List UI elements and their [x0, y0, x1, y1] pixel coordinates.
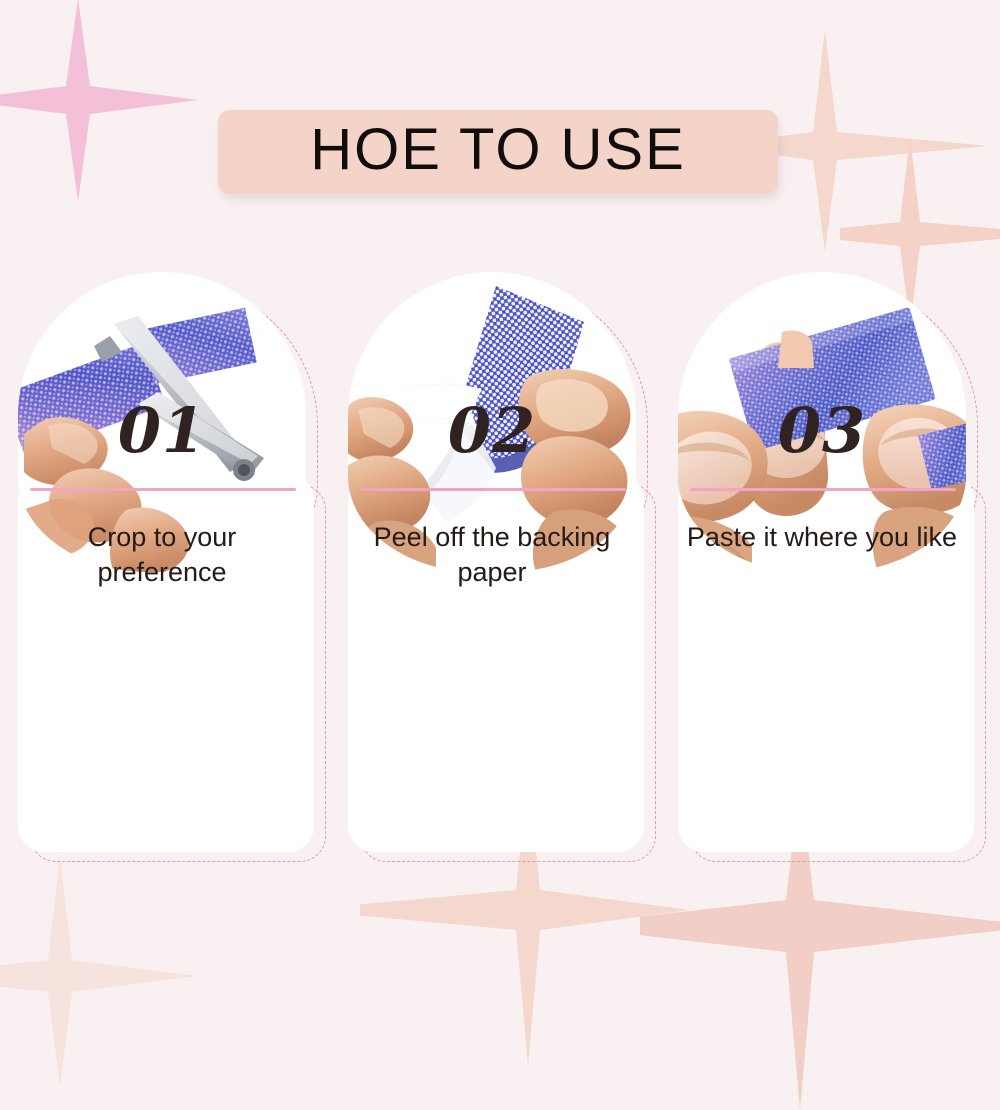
step-card-02[interactable]: 02 Peel off the backing paper — [344, 272, 664, 864]
tape-applied-to-finger-illustration — [678, 272, 966, 572]
step-photo-01 — [18, 272, 306, 572]
title-banner: HOE TO USE — [218, 110, 778, 194]
step-photo-02 — [348, 272, 636, 572]
four-point-sparkle-icon — [0, 0, 200, 210]
step-card-01[interactable]: 01 Crop to your preference — [14, 272, 334, 864]
hand-cutting-tape-illustration — [18, 272, 306, 572]
steps-row: 01 Crop to your preference — [0, 272, 1000, 872]
step-photo-03 — [678, 272, 966, 572]
infographic-canvas: HOE TO USE — [0, 0, 1000, 1000]
page-title: HOE TO USE — [218, 110, 778, 194]
peeling-backing-paper-illustration — [348, 272, 636, 572]
four-point-sparkle-icon — [0, 850, 200, 1090]
step-card-03[interactable]: 03 Paste it where you like — [674, 272, 994, 864]
